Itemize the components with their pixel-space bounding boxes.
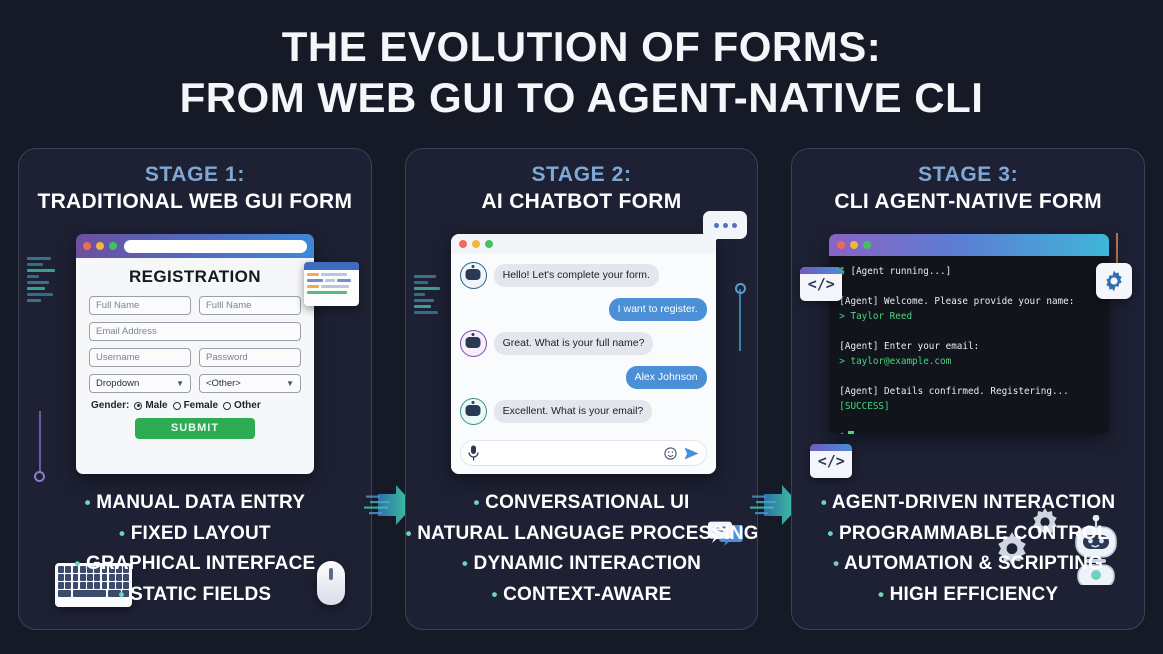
list-item: • CONTEXT-AWARE: [406, 580, 758, 611]
chat-text-input[interactable]: [486, 445, 657, 461]
dropdown-select[interactable]: Dropdown ▼: [89, 374, 191, 393]
stage-3-title: CLI AGENT-NATIVE FORM: [792, 190, 1144, 214]
stage-2-bullets: • CONVERSATIONAL UI • NATURAL LANGUAGE P…: [406, 488, 758, 611]
mini-browser-icon: [304, 262, 359, 306]
arrow-gap-1: [372, 148, 405, 630]
list-item: • HIGH EFFICIENCY: [792, 580, 1144, 611]
terminal-line: [839, 369, 1099, 384]
chat-input-bar[interactable]: [460, 440, 707, 466]
maximize-dot-icon-2[interactable]: [485, 240, 493, 248]
stage-panel-1: STAGE 1: TRADITIONAL WEB GUI FORM REGIST…: [18, 148, 372, 630]
browser-window-mock: REGISTRATION Full Name Fulll Name Email …: [76, 234, 314, 474]
terminal-cursor: [848, 431, 854, 434]
terminal-line: [Agent] Enter your email:: [839, 339, 1099, 354]
stage-3-bullets: • AGENT-DRIVEN INTERACTION • PROGRAMMABL…: [792, 488, 1144, 611]
chat-message-bot-2: Great. What is your full name?: [460, 330, 707, 357]
list-item: • STATIC FIELDS: [19, 580, 371, 611]
stage-2-title: AI CHATBOT FORM: [406, 190, 758, 214]
stage-1-bullets: • MANUAL DATA ENTRY • FIXED LAYOUT • GRA…: [19, 488, 371, 611]
chat-titlebar: [451, 234, 716, 254]
terminal-line-cursor: $: [839, 430, 1099, 434]
terminal-line: $ [Agent running...]: [839, 264, 1099, 279]
chat-bubble: Great. What is your full name?: [494, 332, 654, 355]
decorative-code-lines-left-2: [414, 275, 440, 314]
decorative-connector-node-2: [735, 283, 746, 294]
terminal-window-mock: $ [Agent running...] [Agent] Welcome. Pl…: [829, 234, 1109, 434]
decorative-connector-node: [34, 471, 45, 482]
chat-bubble: Alex Johnson: [626, 366, 707, 389]
other-select[interactable]: <Other> ▼: [199, 374, 301, 393]
code-badge-icon-bottom: </>: [810, 444, 852, 478]
gender-radio-group: Gender: Male Female Other: [91, 400, 301, 411]
close-dot-icon-2[interactable]: [459, 240, 467, 248]
dropdown-select-value: Dropdown: [96, 378, 139, 389]
chat-bubble: I want to register.: [609, 298, 707, 321]
other-select-value: <Other>: [206, 378, 241, 389]
list-item: • CONVERSATIONAL UI: [406, 488, 758, 519]
full-name-field-2[interactable]: Fulll Name: [199, 296, 301, 315]
send-icon[interactable]: [684, 447, 699, 460]
gear-badge-icon: [1096, 263, 1132, 299]
title-line-1: THE EVOLUTION OF FORMS:: [0, 26, 1163, 69]
typing-indicator-bubble: [703, 211, 747, 239]
chat-message-bot-3: Excellent. What is your email?: [460, 398, 707, 425]
username-field[interactable]: Username: [89, 348, 191, 367]
stage-2-label: STAGE 2:: [406, 163, 758, 187]
gender-label: Gender:: [91, 400, 129, 411]
minimize-dot-icon[interactable]: [96, 242, 104, 250]
terminal-line: [Agent] Welcome. Please provide your nam…: [839, 294, 1099, 309]
terminal-line: [SUCCESS]: [839, 399, 1099, 414]
decorative-code-lines-left: [27, 257, 55, 302]
gender-option-female[interactable]: Female: [173, 400, 218, 411]
gender-label-other: Other: [234, 400, 261, 411]
terminal-line: [Agent] Details confirmed. Registering..…: [839, 384, 1099, 399]
terminal-titlebar: [829, 234, 1109, 256]
stage-panel-3: STAGE 3: CLI AGENT-NATIVE FORM $ [Agent …: [791, 148, 1145, 630]
radio-icon-male[interactable]: [134, 402, 142, 410]
radio-icon-other[interactable]: [223, 402, 231, 410]
terminal-line: [839, 414, 1099, 429]
window-controls-3[interactable]: [837, 241, 871, 249]
list-item: • DYNAMIC INTERACTION: [406, 549, 758, 580]
microphone-icon[interactable]: [468, 445, 479, 461]
chat-window-mock: Hello! Let's complete your form. I want …: [451, 234, 716, 474]
browser-titlebar: [76, 234, 314, 258]
terminal-line: > taylor@example.com: [839, 354, 1099, 369]
stage-1-label: STAGE 1:: [19, 163, 371, 187]
stage-panel-2: STAGE 2: AI CHATBOT FORM Hello! Let's c: [405, 148, 759, 630]
window-controls[interactable]: [83, 242, 117, 250]
title-line-2: FROM WEB GUI TO AGENT-NATIVE CLI: [0, 77, 1163, 120]
list-item: • NATURAL LANGUAGE PROCESSING: [406, 519, 758, 550]
radio-icon-female[interactable]: [173, 402, 181, 410]
close-dot-icon[interactable]: [83, 242, 91, 250]
gender-label-female: Female: [184, 400, 218, 411]
terminal-line: > Taylor Reed: [839, 309, 1099, 324]
password-field[interactable]: Password: [199, 348, 301, 367]
chat-bubble: Hello! Let's complete your form.: [494, 264, 659, 287]
chevron-down-icon-2: ▼: [286, 379, 294, 388]
decorative-connector-right-2: [739, 289, 741, 351]
bot-avatar-icon-2: [460, 330, 487, 357]
close-dot-icon-3[interactable]: [837, 241, 845, 249]
list-item: • FIXED LAYOUT: [19, 519, 371, 550]
chat-message-bot-1: Hello! Let's complete your form.: [460, 262, 707, 289]
list-item: • AUTOMATION & SCRIPTING: [792, 549, 1144, 580]
minimize-dot-icon-2[interactable]: [472, 240, 480, 248]
full-name-field[interactable]: Full Name: [89, 296, 191, 315]
bot-avatar-icon: [460, 262, 487, 289]
terminal-line: [839, 324, 1099, 339]
gear-icon: [1103, 270, 1125, 292]
email-field[interactable]: Email Address: [89, 322, 301, 341]
stage-3-label: STAGE 3:: [792, 163, 1144, 187]
terminal-line: [839, 279, 1099, 294]
chevron-down-icon: ▼: [176, 379, 184, 388]
gender-label-male: Male: [145, 400, 167, 411]
list-item: • MANUAL DATA ENTRY: [19, 488, 371, 519]
url-bar[interactable]: [124, 240, 307, 253]
emoji-icon[interactable]: [664, 447, 677, 460]
chat-bubble: Excellent. What is your email?: [494, 400, 653, 423]
arrow-gap-2: [758, 148, 791, 630]
form-heading: REGISTRATION: [89, 267, 301, 287]
gender-option-other[interactable]: Other: [223, 400, 261, 411]
minimize-dot-icon-3[interactable]: [850, 241, 858, 249]
list-item: • AGENT-DRIVEN INTERACTION: [792, 488, 1144, 519]
gender-option-male[interactable]: Male: [134, 400, 167, 411]
stage-panels: STAGE 1: TRADITIONAL WEB GUI FORM REGIST…: [18, 148, 1145, 630]
chat-message-user-1: I want to register.: [460, 298, 707, 321]
terminal-output[interactable]: $ [Agent running...] [Agent] Welcome. Pl…: [829, 256, 1109, 434]
list-item: • PROGRAMMABLE CONTROL: [792, 519, 1144, 550]
decorative-connector-top-right: [1116, 233, 1118, 267]
window-controls-2[interactable]: [459, 240, 493, 248]
code-badge-icon-top: </>: [800, 267, 842, 301]
list-item: • GRAPHICAL INTERFACE: [19, 549, 371, 580]
chat-message-user-2: Alex Johnson: [460, 366, 707, 389]
maximize-dot-icon[interactable]: [109, 242, 117, 250]
decorative-connector-left: [39, 411, 41, 473]
bot-avatar-icon-3: [460, 398, 487, 425]
registration-form: REGISTRATION Full Name Fulll Name Email …: [76, 258, 314, 474]
page-title: THE EVOLUTION OF FORMS: FROM WEB GUI TO …: [0, 0, 1163, 120]
stage-1-title: TRADITIONAL WEB GUI FORM: [19, 190, 371, 214]
maximize-dot-icon-3[interactable]: [863, 241, 871, 249]
submit-button[interactable]: SUBMIT: [135, 418, 255, 439]
